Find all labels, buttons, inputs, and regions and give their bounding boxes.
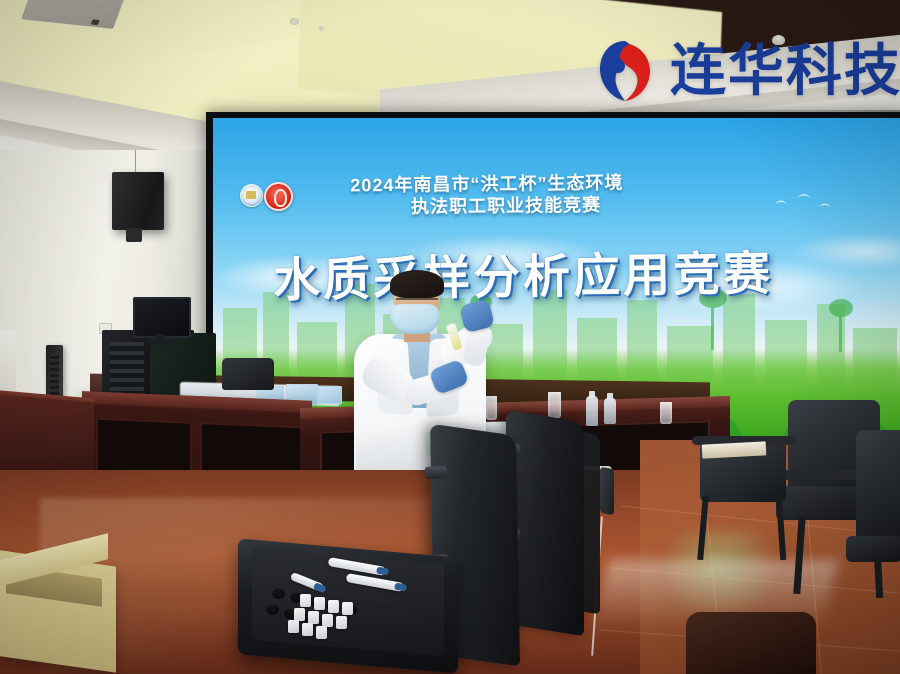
speaker-cable xyxy=(135,150,136,174)
glass-beaker xyxy=(660,402,672,424)
led-banner-subtitle: 2024年南昌市“洪工杯”生态环境 执法职工职业技能竞赛 xyxy=(252,172,722,220)
sprinkler-icon xyxy=(290,18,299,25)
wall-speaker xyxy=(112,172,164,230)
equipment-case-handle xyxy=(600,467,614,515)
av-monitor xyxy=(133,297,191,338)
ceiling-dot xyxy=(318,26,324,31)
sample-vial-white xyxy=(316,626,327,639)
sample-vial-white xyxy=(300,594,311,607)
case-latch xyxy=(425,466,447,479)
sample-vial-white xyxy=(328,600,339,613)
monitor-base xyxy=(146,340,176,344)
screen-birds-icon xyxy=(771,190,841,216)
desk-chair-back xyxy=(222,358,274,390)
lianhua-swirl-logo-icon xyxy=(592,38,658,104)
chair-backrest xyxy=(856,430,900,542)
photo-scene: 2024年南昌市“洪工杯”生态环境 执法职工职业技能竞赛 水质采样分析应用竞赛 xyxy=(0,0,900,674)
supply-box xyxy=(318,386,342,404)
sample-vial-white xyxy=(342,602,353,615)
brand-name-text: 连华科技 xyxy=(670,42,900,100)
sample-bottle xyxy=(604,398,616,424)
face-mask xyxy=(390,304,440,334)
hair xyxy=(390,270,444,298)
sample-vial-white xyxy=(336,616,347,629)
sample-vial-white xyxy=(302,623,313,636)
sample-bottle xyxy=(586,396,598,426)
chair-seat xyxy=(846,536,900,562)
chair-backrest xyxy=(686,612,816,674)
sample-vial-white xyxy=(288,620,299,633)
glass-beaker xyxy=(548,392,561,418)
sample-vial-white xyxy=(314,597,325,610)
brand-watermark: 连华科技 xyxy=(592,34,900,108)
